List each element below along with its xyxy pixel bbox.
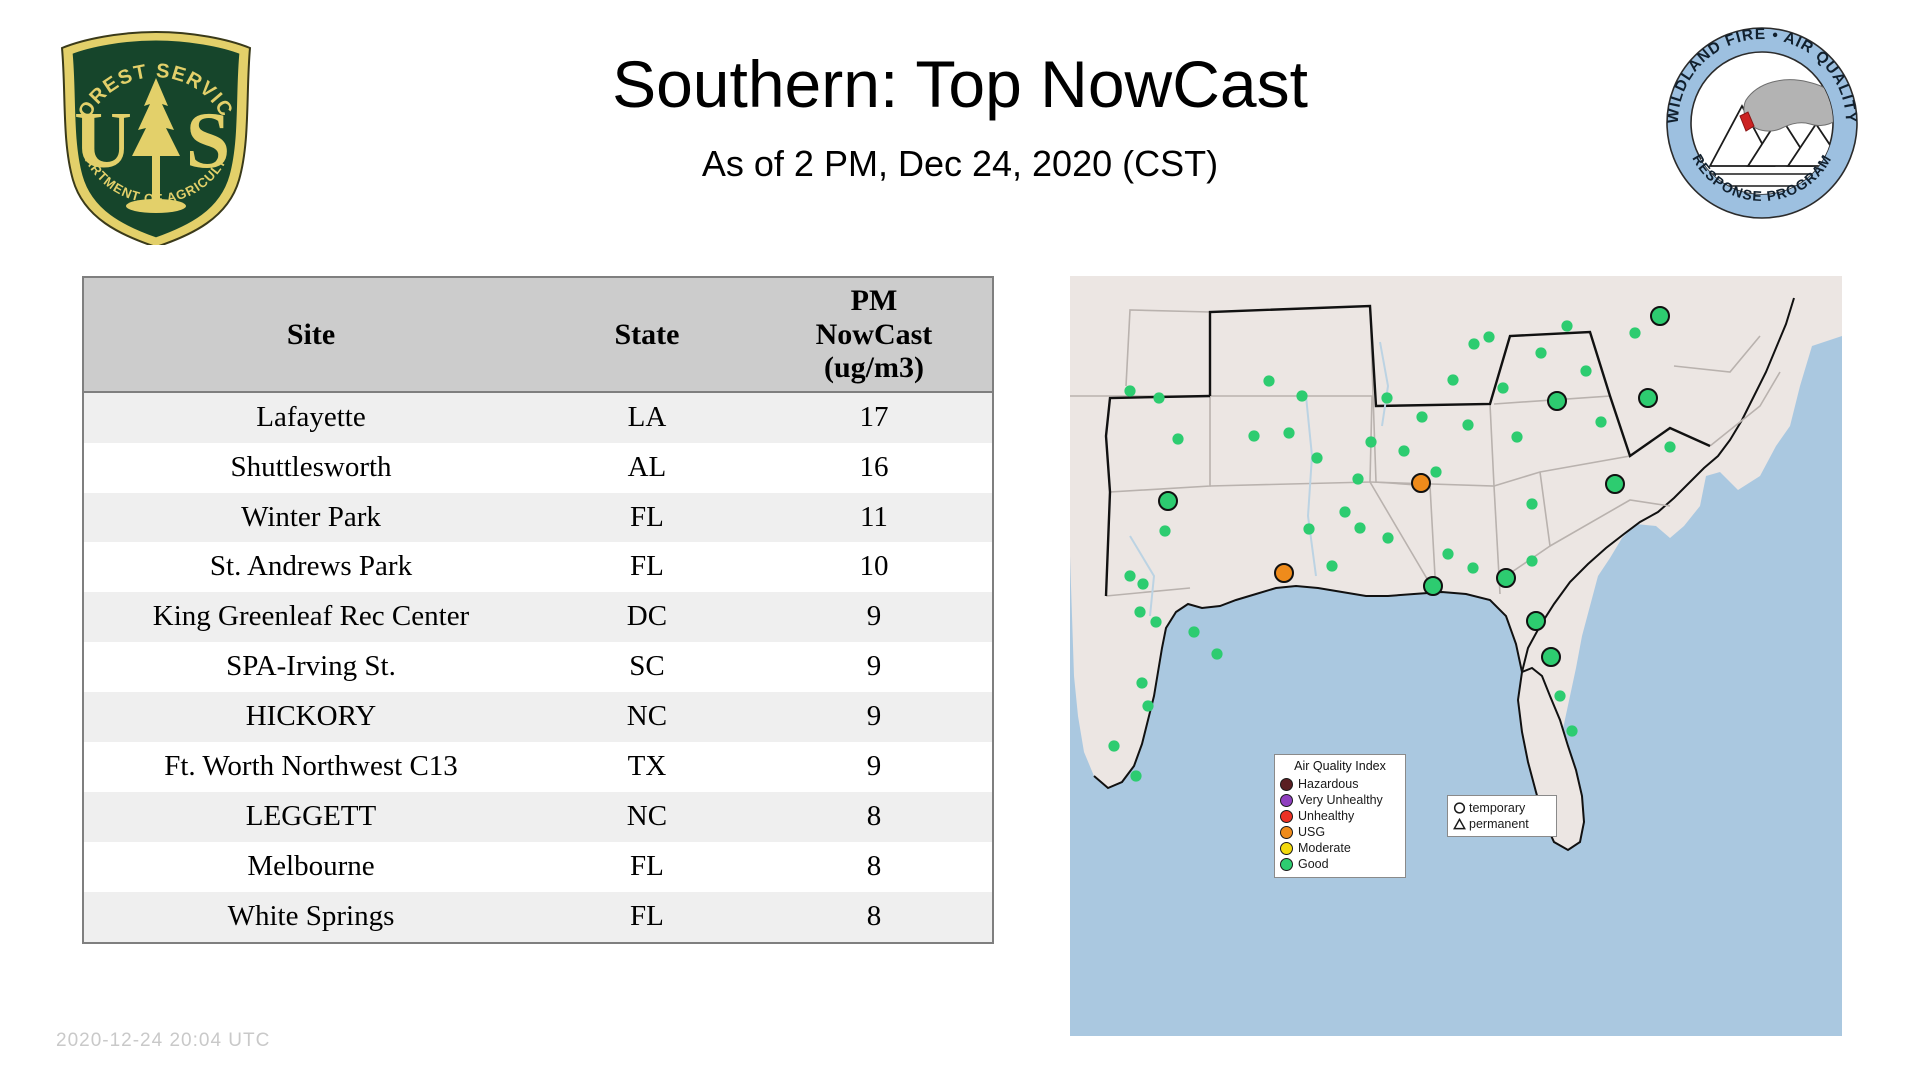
table-body: LafayetteLA17ShuttlesworthAL16Winter Par… [84,392,992,942]
value-cell: 9 [756,692,992,742]
monitor-dot[interactable] [1442,548,1453,559]
value-cell: 9 [756,642,992,692]
usfs-letter-u: U [74,97,132,185]
table-row: HICKORYNC9 [84,692,992,742]
aqi-legend-row: USG [1280,824,1400,840]
value-cell: 17 [756,392,992,443]
column-header-pm-nowcast: PM NowCast (ug/m3) [756,278,992,392]
table-header: Site State PM NowCast (ug/m3) [84,278,992,392]
site-type-label-permanent: permanent [1469,818,1529,831]
site-cell: Melbourne [84,842,538,892]
value-cell: 16 [756,443,992,493]
column-header-site: Site [84,278,538,392]
state-cell: FL [538,493,756,543]
aqi-legend-items: HazardousVery UnhealthyUnhealthyUSGModer… [1280,776,1400,872]
footer-timestamp: 2020-12-24 20:04 UTC [56,1030,270,1052]
title-block: Southern: Top NowCast As of 2 PM, Dec 24… [320,48,1600,185]
monitor-dot[interactable] [1398,445,1409,456]
aqi-legend-row: Good [1280,856,1400,872]
site-cell: Lafayette [84,392,538,443]
state-cell: SC [538,642,756,692]
monitor-dot[interactable] [1483,331,1494,342]
monitor-dot[interactable] [1352,473,1363,484]
column-header-state: State [538,278,756,392]
value-cell: 8 [756,792,992,842]
monitor-dot[interactable] [1296,390,1307,401]
wildland-fire-air-quality-logo: WILDLAND FIRE • AIR QUALITY RESPONSE PRO… [1662,24,1862,222]
monitor-dot[interactable] [1497,382,1508,393]
site-type-legend: temporary permanent [1447,795,1557,837]
usfs-letter-s: S [186,97,231,185]
monitor-dot[interactable] [1467,562,1478,573]
monitor-dot[interactable] [1142,700,1153,711]
state-cell: FL [538,542,756,592]
site-cell: LEGGETT [84,792,538,842]
monitor-dot[interactable] [1130,770,1141,781]
monitor-dot[interactable] [1447,374,1458,385]
aqi-legend-title: Air Quality Index [1280,759,1400,773]
site-cell: HICKORY [84,692,538,742]
monitor-dot[interactable] [1136,677,1147,688]
monitor-dot[interactable] [1606,475,1624,493]
monitor-dot[interactable] [1554,690,1565,701]
monitor-dot[interactable] [1108,740,1119,751]
site-cell: White Springs [84,892,538,942]
table-row: Winter ParkFL11 [84,493,992,543]
site-type-row-permanent: permanent [1453,816,1551,832]
value-cell: 9 [756,742,992,792]
monitor-dot[interactable] [1303,523,1314,534]
monitor-dot[interactable] [1326,560,1337,571]
aqi-swatch-icon [1280,826,1293,839]
table-row: King Greenleaf Rec CenterDC9 [84,592,992,642]
monitor-dot[interactable] [1511,431,1522,442]
monitor-dot[interactable] [1150,616,1161,627]
aqi-legend-label: Unhealthy [1298,810,1354,823]
table-row: White SpringsFL8 [84,892,992,942]
monitor-dot[interactable] [1188,626,1199,637]
column-header-pm-nowcast-line3: (ug/m3) [824,351,924,384]
monitor-dot[interactable] [1134,606,1145,617]
state-cell: NC [538,792,756,842]
nowcast-table-container: Site State PM NowCast (ug/m3) LafayetteL… [82,276,994,944]
table-row: Ft. Worth Northwest C13TX9 [84,742,992,792]
monitor-dot[interactable] [1211,648,1222,659]
value-cell: 9 [756,592,992,642]
table-row: LEGGETTNC8 [84,792,992,842]
monitor-dot[interactable] [1639,389,1657,407]
monitor-dot[interactable] [1248,430,1259,441]
page-title: Southern: Top NowCast [320,48,1600,122]
monitor-dot[interactable] [1172,433,1183,444]
site-cell: Winter Park [84,493,538,543]
aqi-swatch-icon [1280,794,1293,807]
aqi-legend-label: Good [1298,858,1329,871]
aqi-legend-row: Hazardous [1280,776,1400,792]
usfs-forest-service-logo: FOREST SERVICE DEPARTMENT OF AGRICULTURE… [56,30,256,245]
monitor-dot[interactable] [1566,725,1577,736]
monitor-dot[interactable] [1416,411,1427,422]
permanent-site-icon [1453,817,1466,831]
monitor-dot[interactable] [1153,392,1164,403]
monitor-dot[interactable] [1283,427,1294,438]
table-row: St. Andrews ParkFL10 [84,542,992,592]
value-cell: 8 [756,842,992,892]
monitor-dot[interactable] [1497,569,1515,587]
monitor-dot[interactable] [1526,555,1537,566]
value-cell: 11 [756,493,992,543]
monitor-dot[interactable] [1526,498,1537,509]
aqi-legend-row: Moderate [1280,840,1400,856]
site-type-row-temporary: temporary [1453,800,1551,816]
table-row: ShuttlesworthAL16 [84,443,992,493]
site-cell: Shuttlesworth [84,443,538,493]
value-cell: 8 [756,892,992,942]
monitor-dot[interactable] [1580,365,1591,376]
monitor-dot[interactable] [1382,532,1393,543]
column-header-pm-nowcast-line1: PM [851,284,898,317]
site-cell: King Greenleaf Rec Center [84,592,538,642]
monitor-dot[interactable] [1124,385,1135,396]
monitor-dot[interactable] [1354,522,1365,533]
monitor-dot[interactable] [1542,648,1560,666]
monitor-dot[interactable] [1535,347,1546,358]
aqi-legend-row: Unhealthy [1280,808,1400,824]
aqi-legend-label: USG [1298,826,1325,839]
monitor-dot[interactable] [1137,578,1148,589]
monitor-dot[interactable] [1159,492,1177,510]
nowcast-table: Site State PM NowCast (ug/m3) LafayetteL… [84,278,992,942]
table-row: LafayetteLA17 [84,392,992,443]
monitor-dot[interactable] [1629,327,1640,338]
aqi-swatch-icon [1280,778,1293,791]
monitor-dot[interactable] [1275,564,1293,582]
monitor-dot[interactable] [1412,474,1430,492]
site-type-label-temporary: temporary [1469,802,1525,815]
monitor-dot[interactable] [1462,419,1473,430]
monitor-dot[interactable] [1159,525,1170,536]
aqi-legend-label: Hazardous [1298,778,1358,791]
aqi-legend-row: Very Unhealthy [1280,792,1400,808]
monitor-dot[interactable] [1468,338,1479,349]
aqi-legend-label: Moderate [1298,842,1351,855]
aqi-legend-label: Very Unhealthy [1298,794,1383,807]
table-row: MelbourneFL8 [84,842,992,892]
state-cell: TX [538,742,756,792]
monitor-dot[interactable] [1263,375,1274,386]
page-subtitle: As of 2 PM, Dec 24, 2020 (CST) [320,142,1600,185]
table-row: SPA-Irving St.SC9 [84,642,992,692]
monitor-dot[interactable] [1430,466,1441,477]
monitor-dot[interactable] [1664,441,1675,452]
aqi-swatch-icon [1280,858,1293,871]
site-cell: SPA-Irving St. [84,642,538,692]
monitor-dot[interactable] [1381,392,1392,403]
state-cell: AL [538,443,756,493]
monitor-dot[interactable] [1527,612,1545,630]
state-cell: FL [538,842,756,892]
value-cell: 10 [756,542,992,592]
monitor-dot[interactable] [1311,452,1322,463]
monitor-dot[interactable] [1561,320,1572,331]
column-header-pm-nowcast-line2: NowCast [816,318,933,351]
monitor-dot[interactable] [1365,436,1376,447]
aqi-legend: Air Quality Index HazardousVery Unhealth… [1274,754,1406,878]
site-cell: St. Andrews Park [84,542,538,592]
monitor-dot[interactable] [1595,416,1606,427]
air-quality-map[interactable]: Air Quality Index HazardousVery Unhealth… [1070,276,1842,1036]
monitor-dot[interactable] [1548,392,1566,410]
state-cell: LA [538,392,756,443]
monitor-dot[interactable] [1651,307,1669,325]
state-cell: DC [538,592,756,642]
table-header-row: Site State PM NowCast (ug/m3) [84,278,992,392]
aqi-swatch-icon [1280,842,1293,855]
temporary-site-icon [1453,801,1466,815]
site-cell: Ft. Worth Northwest C13 [84,742,538,792]
aqi-swatch-icon [1280,810,1293,823]
state-cell: NC [538,692,756,742]
monitor-dot[interactable] [1339,506,1350,517]
monitor-dot[interactable] [1124,570,1135,581]
state-cell: FL [538,892,756,942]
monitor-dot[interactable] [1424,577,1442,595]
